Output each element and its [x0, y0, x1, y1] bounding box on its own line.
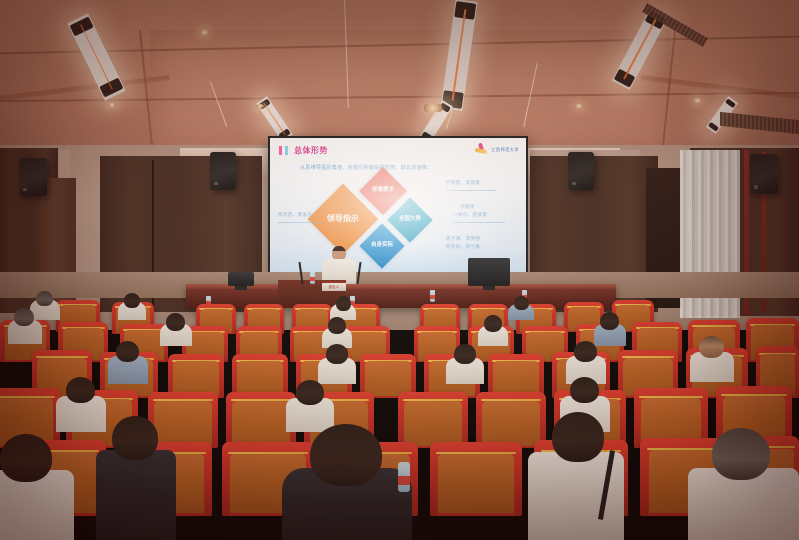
attendee-head	[552, 412, 604, 462]
logo-label: 江西师范大学	[491, 147, 519, 153]
attendee-head	[36, 291, 53, 306]
air-vent	[720, 112, 799, 134]
note-rule	[446, 190, 496, 191]
attendee-head	[600, 312, 619, 330]
seat	[398, 392, 468, 448]
nameplate: 报告人	[322, 281, 346, 291]
recessed-downlight	[108, 103, 116, 107]
attendee-head	[310, 424, 382, 486]
recessed-downlight	[200, 30, 209, 35]
recessed-downlight	[575, 104, 583, 108]
diamond-label: 部署要求	[372, 188, 394, 194]
note-left: 作示范、勇争先	[278, 212, 312, 219]
wall-speaker-left-outer	[19, 158, 47, 196]
note-top-right: 严管理、高质量	[446, 180, 480, 187]
slide-title: 总体形势	[294, 145, 328, 156]
title-accent-blue	[285, 146, 288, 155]
projection-screen: 总体形势 江西师范大学 从思维导图的角度，对我们所面临的形势，做总体画像： 领导…	[270, 138, 526, 276]
conference-room-photo: 总体形势 江西师范大学 从思维导图的角度，对我们所面临的形势，做总体画像： 领导…	[0, 0, 799, 540]
attendee-head	[699, 336, 724, 358]
water-bottle	[430, 290, 435, 302]
water-bottle-held	[398, 462, 410, 492]
university-logo: 江西师范大学	[475, 143, 519, 156]
note-bottom-right-2: 新阶段、新气象	[446, 244, 480, 251]
title-accent-pink	[279, 146, 282, 155]
attendee-head	[0, 434, 52, 482]
note-mid-right-1: 守底线	[460, 204, 475, 211]
seat	[476, 392, 546, 448]
attendee-head	[336, 296, 351, 311]
attendee-head	[166, 313, 185, 331]
note-bottom-right-1: 底子薄、求突围	[446, 236, 480, 243]
seat	[430, 442, 522, 516]
attendee-head	[14, 308, 34, 326]
attendee-head	[574, 341, 597, 362]
attendee-head	[326, 344, 348, 364]
note-mid-right-2: 一体化、提质量	[453, 212, 487, 219]
diamond-label: 领导指示	[327, 215, 359, 224]
diamond-label: 全国大势	[399, 217, 421, 223]
attendee-head	[124, 293, 140, 308]
attendee-head	[328, 317, 346, 334]
attendee-head	[570, 377, 599, 403]
slide-subtitle: 从思维导图的角度，对我们所面临的形势，做总体画像：	[300, 164, 433, 171]
attendee-head	[514, 296, 529, 310]
desktop-monitor	[468, 258, 510, 286]
wall-speaker-left-inner	[210, 152, 236, 190]
attendee-head	[484, 315, 502, 332]
slide-title-bar: 总体形势	[279, 145, 328, 156]
seat	[148, 392, 218, 448]
attendee-head	[66, 377, 95, 403]
attendee-head	[454, 344, 476, 364]
nameplate-text: 报告人	[322, 283, 346, 291]
attendee-shoulders	[96, 450, 176, 540]
attendee-head	[712, 428, 770, 480]
wall-speaker-right-outer	[750, 154, 778, 194]
note-rule	[278, 222, 322, 223]
attendee-head	[296, 380, 324, 405]
recessed-downlight	[256, 104, 264, 108]
projection-screen-frame: 总体形势 江西师范大学 从思维导图的角度，对我们所面临的形势，做总体画像： 领导…	[268, 136, 528, 278]
note-rule	[453, 222, 505, 223]
attendee-head	[116, 341, 139, 362]
recessed-downlight	[424, 104, 442, 112]
running-figure-logo-icon	[475, 143, 488, 156]
attendee-head	[112, 416, 158, 460]
diamond-label: 自身实际	[371, 243, 393, 249]
ceiling	[0, 0, 799, 150]
water-bottle	[310, 272, 315, 284]
recessed-downlight	[693, 98, 702, 103]
laptop-screen	[228, 272, 254, 286]
wall-speaker-right-inner	[568, 152, 594, 190]
